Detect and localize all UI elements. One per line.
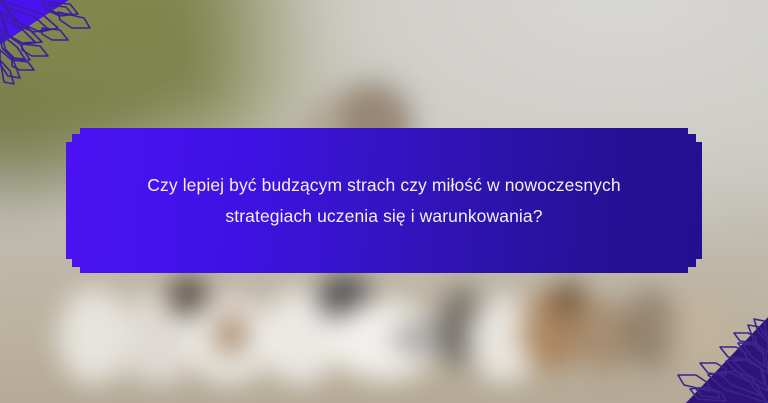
figure-blob — [668, 294, 732, 366]
head-blob — [552, 280, 586, 316]
question-headline: Czy lepiej być budzącym strach czy miłoś… — [104, 170, 664, 232]
question-banner: Czy lepiej być budzącym strach czy miłoś… — [66, 128, 702, 273]
detail-blob — [214, 312, 248, 356]
slide-canvas: Czy lepiej być budzącym strach czy miłoś… — [0, 0, 768, 403]
